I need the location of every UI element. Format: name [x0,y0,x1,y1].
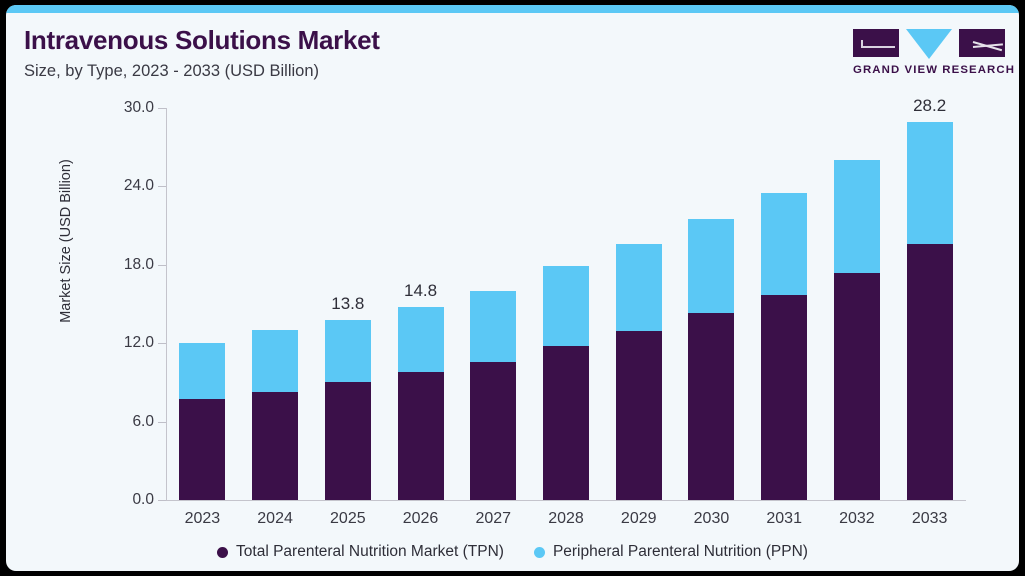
bar-group[interactable] [761,108,807,500]
y-axis-tick-label: 30.0 [124,99,154,117]
legend-label: Peripheral Parenteral Nutrition (PPN) [553,543,808,561]
bar-segment-tpn[interactable] [179,399,225,500]
bar-segment-ppn[interactable] [325,320,371,383]
bar-segment-tpn[interactable] [325,382,371,500]
x-axis-tick-label: 2032 [822,510,892,528]
legend-item[interactable]: Total Parenteral Nutrition Market (TPN) [217,543,504,561]
y-axis-tick [158,265,166,266]
bar-group[interactable] [616,108,662,500]
x-axis-tick-label: 2025 [313,510,383,528]
x-axis-tick-label: 2028 [531,510,601,528]
x-axis-tick-label: 2031 [749,510,819,528]
y-axis-tick [158,343,166,344]
bar-segment-tpn[interactable] [834,273,880,500]
plot-area: Market Size (USD Billion) 0.06.012.018.0… [6,5,1019,571]
bar-segment-ppn[interactable] [761,193,807,295]
x-axis-tick-label: 2026 [386,510,456,528]
y-axis-tick-label: 0.0 [132,491,154,509]
legend-color-dot-icon [534,547,545,558]
y-axis-tick [158,422,166,423]
x-axis-tick-label: 2023 [167,510,237,528]
y-axis-title: Market Size (USD Billion) [58,141,74,341]
bar-segment-ppn[interactable] [252,330,298,391]
y-axis-tick-label: 12.0 [124,334,154,352]
bar-segment-ppn[interactable] [398,307,444,372]
bar-value-label: 14.8 [386,281,456,301]
bar-segment-ppn[interactable] [179,343,225,399]
bar-group[interactable] [470,108,516,500]
bar-segment-tpn[interactable] [470,362,516,501]
y-axis-tick-label: 18.0 [124,256,154,274]
bar-segment-tpn[interactable] [398,372,444,500]
y-axis-tick [158,500,166,501]
x-axis-tick-label: 2027 [458,510,528,528]
bar-series-container: 13.814.828.2 [166,108,966,500]
bar-group[interactable] [834,108,880,500]
bar-segment-ppn[interactable] [470,291,516,362]
y-axis-tick-label: 24.0 [124,177,154,195]
bar-segment-tpn[interactable] [543,346,589,500]
bar-group[interactable]: 14.8 [398,108,444,500]
y-axis-labels: 0.06.012.018.024.030.0 [102,103,154,503]
bar-group[interactable] [688,108,734,500]
bar-value-label: 13.8 [313,294,383,314]
bar-segment-ppn[interactable] [543,266,589,346]
x-axis-line [166,500,966,501]
y-axis-tick [158,186,166,187]
bar-value-label: 28.2 [895,96,965,116]
y-axis-tick-label: 6.0 [132,413,154,431]
x-axis-tick-label: 2024 [240,510,310,528]
bar-segment-ppn[interactable] [907,122,953,244]
legend-item[interactable]: Peripheral Parenteral Nutrition (PPN) [534,543,808,561]
bar-group[interactable]: 28.2 [907,108,953,500]
bar-segment-tpn[interactable] [616,331,662,500]
bar-segment-tpn[interactable] [688,313,734,500]
bar-segment-tpn[interactable] [252,392,298,500]
bar-segment-ppn[interactable] [834,160,880,272]
chart-card: Intravenous Solutions Market Size, by Ty… [6,5,1019,571]
y-axis-tick [158,108,166,109]
bar-segment-tpn[interactable] [907,244,953,500]
x-axis-tick-label: 2030 [676,510,746,528]
bar-group[interactable] [179,108,225,500]
x-axis-tick-label: 2029 [604,510,674,528]
bar-group[interactable] [543,108,589,500]
legend-color-dot-icon [217,547,228,558]
x-axis-tick-label: 2033 [895,510,965,528]
x-axis-labels: 2023202420252026202720282029203020312032… [166,510,966,534]
bar-segment-ppn[interactable] [688,219,734,313]
chart-legend: Total Parenteral Nutrition Market (TPN)P… [6,543,1019,561]
bar-segment-tpn[interactable] [761,295,807,500]
bar-segment-ppn[interactable] [616,244,662,332]
legend-label: Total Parenteral Nutrition Market (TPN) [236,543,504,561]
bar-group[interactable] [252,108,298,500]
bar-group[interactable]: 13.8 [325,108,371,500]
